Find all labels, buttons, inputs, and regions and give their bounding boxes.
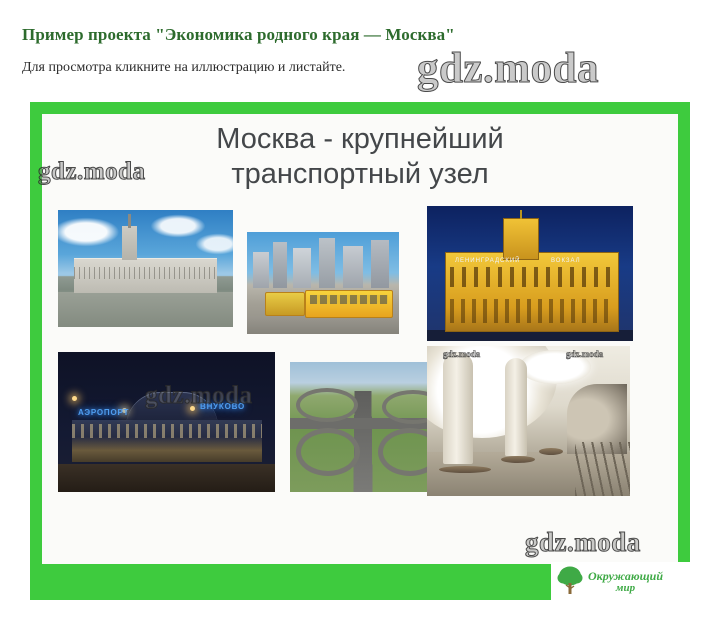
airport-lamp-icon [72,396,77,401]
page-title: Пример проекта "Экономика родного края —… [22,25,455,45]
airport-lamp-icon [190,406,195,411]
metro-bench [439,466,491,473]
station-sign-right: ВОКЗАЛ [551,258,581,264]
tram-highrises [247,236,399,288]
terminal-building [74,258,217,293]
tram-vehicle-secondary [265,292,305,316]
illustration-frame[interactable]: Москва - крупнейший транспортный узел ЛЕ… [30,102,690,600]
airport-apron [58,464,275,492]
brand-line-1: Окружающий [588,569,663,583]
photo-highway-interchange[interactable] [290,362,447,492]
interchange-loop [296,428,360,476]
slide-heading: Москва - крупнейший транспортный узел [61,122,659,193]
photo-railway-station[interactable]: ЛЕНИНГРАДСКИЙ ВОКЗАЛ [427,206,633,341]
airport-neon-left: АЭРОПОРТ [78,408,129,417]
terminal-spire [128,214,131,228]
interchange-loop [296,388,358,422]
brand-text: Окружающий мир [588,570,663,594]
brand-line-2: мир [588,583,663,595]
station-facade [445,252,619,332]
page-instructions: Для просмотра кликните на иллюстрацию и … [22,60,345,76]
photo-trams[interactable] [247,232,399,334]
photo-metro-station[interactable] [427,346,630,496]
metro-bench [539,448,563,455]
tram-windows [310,295,388,304]
tram-road [247,316,399,334]
metro-rails [575,442,630,496]
tree-icon [557,565,583,600]
station-clock-tower [503,218,539,260]
photo-river-terminal[interactable] [58,210,233,327]
airport-neon-right: ВНУКОВО [200,402,245,411]
brand-logo[interactable]: Окружающий мир [551,562,694,602]
metro-bench [501,456,535,463]
tram-vehicle-primary [305,290,393,318]
metro-pillar [505,358,527,456]
station-sign-left: ЛЕНИНГРАДСКИЙ [455,258,521,264]
watermark-header: gdz.moda [417,44,599,93]
terminal-plaza [58,292,233,327]
metro-oculus [519,350,591,384]
airport-terminal [72,420,262,462]
photo-airport[interactable]: АЭРОПОРТ ВНУКОВО [58,352,275,492]
metro-pillar [443,352,473,464]
slide-canvas[interactable]: Москва - крупнейший транспортный узел ЛЕ… [42,114,678,564]
terminal-tower [122,226,137,260]
